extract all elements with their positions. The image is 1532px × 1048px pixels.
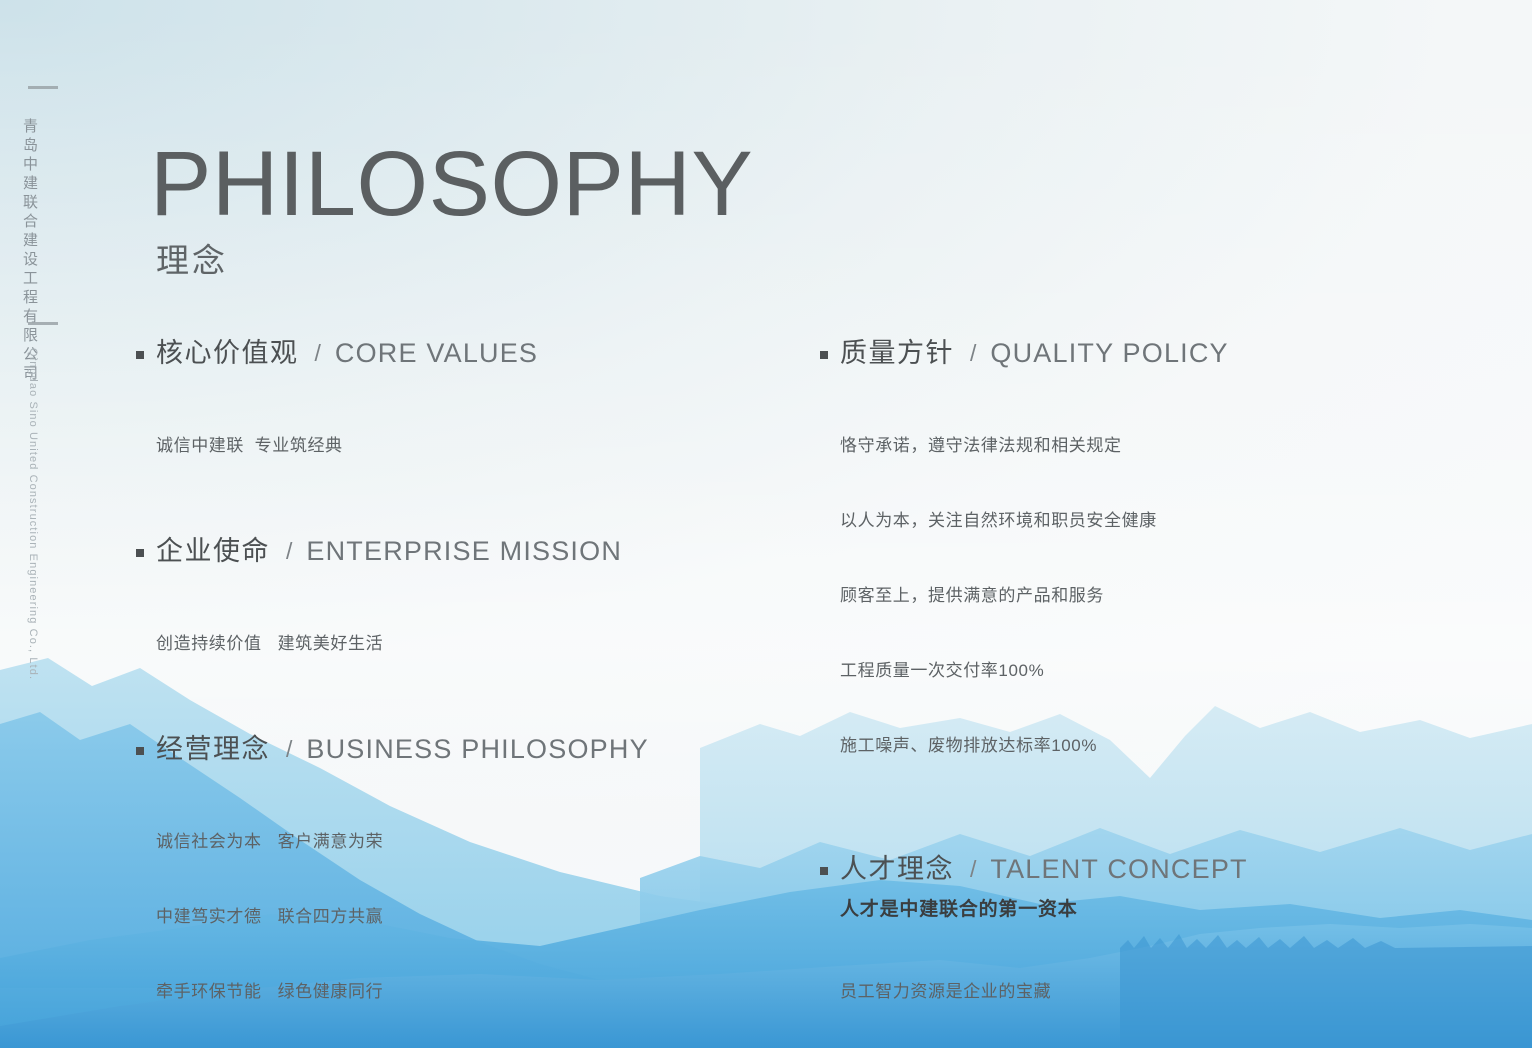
slash-separator: /: [286, 540, 292, 563]
section-title-en: ENTERPRISE MISSION: [306, 538, 622, 565]
section-title-cn: 质量方针: [840, 340, 954, 367]
section-title-cn: 企业使命: [156, 538, 270, 565]
section-body: 诚信中建联 专业筑经典: [156, 383, 696, 508]
rail-dash-top: [28, 86, 58, 89]
body-line: 顾客至上，提供满意的产品和服务: [840, 583, 1380, 608]
section-lead-statement: 人才是中建联合的第一资本: [840, 897, 1380, 923]
body-line: 施工噪声、废物排放达标率100%: [840, 733, 1380, 758]
section-heading: 质量方针 / QUALITY POLICY: [820, 340, 1380, 367]
page-title-en: PHILOSOPHY: [150, 138, 753, 230]
section-core-values: 核心价值观 / CORE VALUES 诚信中建联 专业筑经典: [136, 340, 696, 508]
body-line: 牵手环保节能 绿色健康同行: [156, 979, 696, 1004]
section-quality-policy: 质量方针 / QUALITY POLICY 恪守承诺，遵守法律法规和相关规定 以…: [820, 340, 1380, 808]
square-bullet-icon: [820, 867, 828, 875]
section-title-en: TALENT CONCEPT: [990, 856, 1247, 883]
section-title-cn: 人才理念: [840, 856, 954, 883]
philosophy-column-left: 核心价值观 / CORE VALUES 诚信中建联 专业筑经典 企业使命 / E…: [136, 340, 696, 1048]
body-line: 诚信社会为本 客户满意为荣: [156, 829, 696, 854]
section-heading: 经营理念 / BUSINESS PHILOSOPHY: [136, 736, 696, 763]
brand-name-en: Qingdao Sino United Construction Enginee…: [27, 348, 38, 680]
square-bullet-icon: [136, 549, 144, 557]
page-title-cn: 理念: [156, 244, 753, 277]
body-line: 工程质量一次交付率100%: [840, 658, 1380, 683]
brand-name-cn: 青岛中建联合建设工程有限公司: [22, 118, 37, 384]
body-line: 恪守承诺，遵守法律法规和相关规定: [840, 433, 1380, 458]
philosophy-slide: 青岛中建联合建设工程有限公司 Qingdao Sino United Const…: [0, 0, 1532, 1048]
section-body: 员工智力资源是企业的宝藏 发现人才、留住人才、培养人才、用好人才 用人之所长，容…: [840, 929, 1380, 1048]
section-heading: 人才理念 / TALENT CONCEPT: [820, 856, 1380, 883]
page-title-group: PHILOSOPHY 理念: [150, 138, 753, 277]
slash-separator: /: [286, 738, 292, 761]
body-line: 员工智力资源是企业的宝藏: [840, 979, 1380, 1004]
section-enterprise-mission: 企业使命 / ENTERPRISE MISSION 创造持续价值 建筑美好生活: [136, 538, 696, 706]
section-body: 恪守承诺，遵守法律法规和相关规定 以人为本，关注自然环境和职员安全健康 顾客至上…: [840, 383, 1380, 808]
section-body: 诚信社会为本 客户满意为荣 中建笃实才德 联合四方共赢 牵手环保节能 绿色健康同…: [156, 779, 696, 1048]
square-bullet-icon: [820, 351, 828, 359]
body-line: 以人为本，关注自然环境和职员安全健康: [840, 508, 1380, 533]
square-bullet-icon: [136, 351, 144, 359]
section-business-philosophy: 经营理念 / BUSINESS PHILOSOPHY 诚信社会为本 客户满意为荣…: [136, 736, 696, 1048]
section-title-en: BUSINESS PHILOSOPHY: [306, 736, 648, 763]
rail-dash-middle: [28, 322, 58, 325]
body-line: 中建笃实才德 联合四方共赢: [156, 904, 696, 929]
section-body: 创造持续价值 建筑美好生活: [156, 581, 696, 706]
section-heading: 企业使命 / ENTERPRISE MISSION: [136, 538, 696, 565]
section-talent-concept: 人才理念 / TALENT CONCEPT 人才是中建联合的第一资本 员工智力资…: [820, 856, 1380, 1048]
philosophy-column-right: 质量方针 / QUALITY POLICY 恪守承诺，遵守法律法规和相关规定 以…: [820, 340, 1380, 1048]
slash-separator: /: [970, 858, 976, 881]
body-line: 诚信中建联 专业筑经典: [156, 433, 696, 458]
brand-rail: 青岛中建联合建设工程有限公司 Qingdao Sino United Const…: [0, 0, 92, 1048]
section-title-en: QUALITY POLICY: [990, 340, 1228, 367]
square-bullet-icon: [136, 747, 144, 755]
section-title-cn: 核心价值观: [156, 340, 299, 367]
body-line: 创造持续价值 建筑美好生活: [156, 631, 696, 656]
section-title-cn: 经营理念: [156, 736, 270, 763]
section-title-en: CORE VALUES: [335, 340, 538, 367]
slash-separator: /: [970, 342, 976, 365]
section-heading: 核心价值观 / CORE VALUES: [136, 340, 696, 367]
slash-separator: /: [315, 342, 321, 365]
